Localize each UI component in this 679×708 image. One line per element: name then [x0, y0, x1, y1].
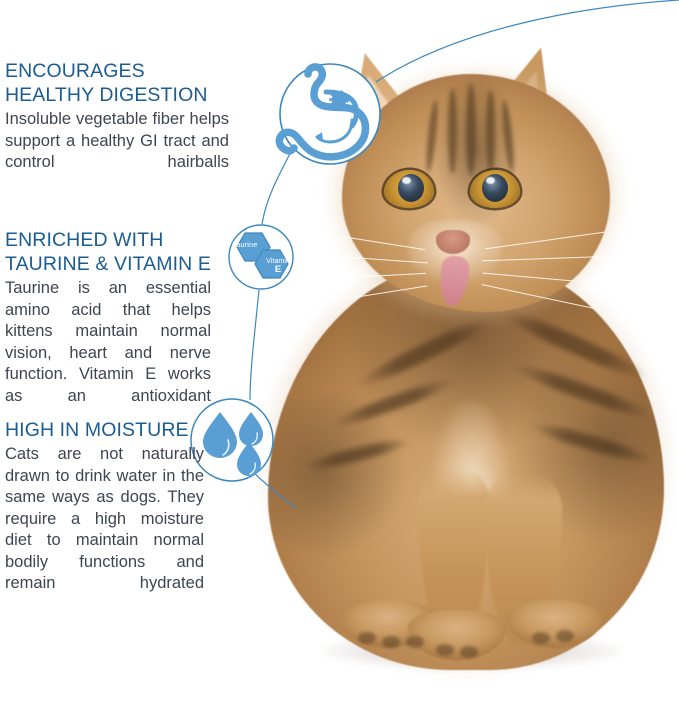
benefit-heading-moisture: HIGH IN MOISTURE	[5, 418, 205, 442]
benefit-block-moisture: HIGH IN MOISTURE Cats are not naturally …	[5, 418, 205, 616]
hexagon-vitamin-e	[255, 250, 288, 278]
benefit-block-digestion: ENCOURAGES HEALTHY DIGESTION Insoluble v…	[5, 59, 231, 195]
benefit-heading-digestion: ENCOURAGES HEALTHY DIGESTION	[5, 59, 231, 107]
connector-line-taurine-to-moisture	[250, 290, 259, 400]
benefit-heading-taurine: ENRICHED WITH TAURINE & VITAMIN E	[5, 228, 212, 276]
hexagon-molecule-icon	[229, 225, 293, 289]
benefit-body-moisture: Cats are not naturally drawn to drink wa…	[5, 444, 204, 616]
benefit-body-digestion: Insoluble vegetable fiber helps support …	[5, 109, 229, 195]
benefit-body-taurine: Taurine is an essential amino acid that …	[5, 278, 211, 429]
infographic-canvas: Taurine Vitamin E ENCOURAGES HEALTHY DIG…	[0, 0, 679, 708]
connector-line-moisture-to-cat	[253, 472, 296, 508]
benefit-block-taurine: ENRICHED WITH TAURINE & VITAMIN E Taurin…	[5, 228, 212, 429]
connector-line-top	[376, 0, 679, 82]
connector-line-digestion-to-taurine	[262, 150, 292, 224]
stomach-icon	[279, 64, 380, 164]
